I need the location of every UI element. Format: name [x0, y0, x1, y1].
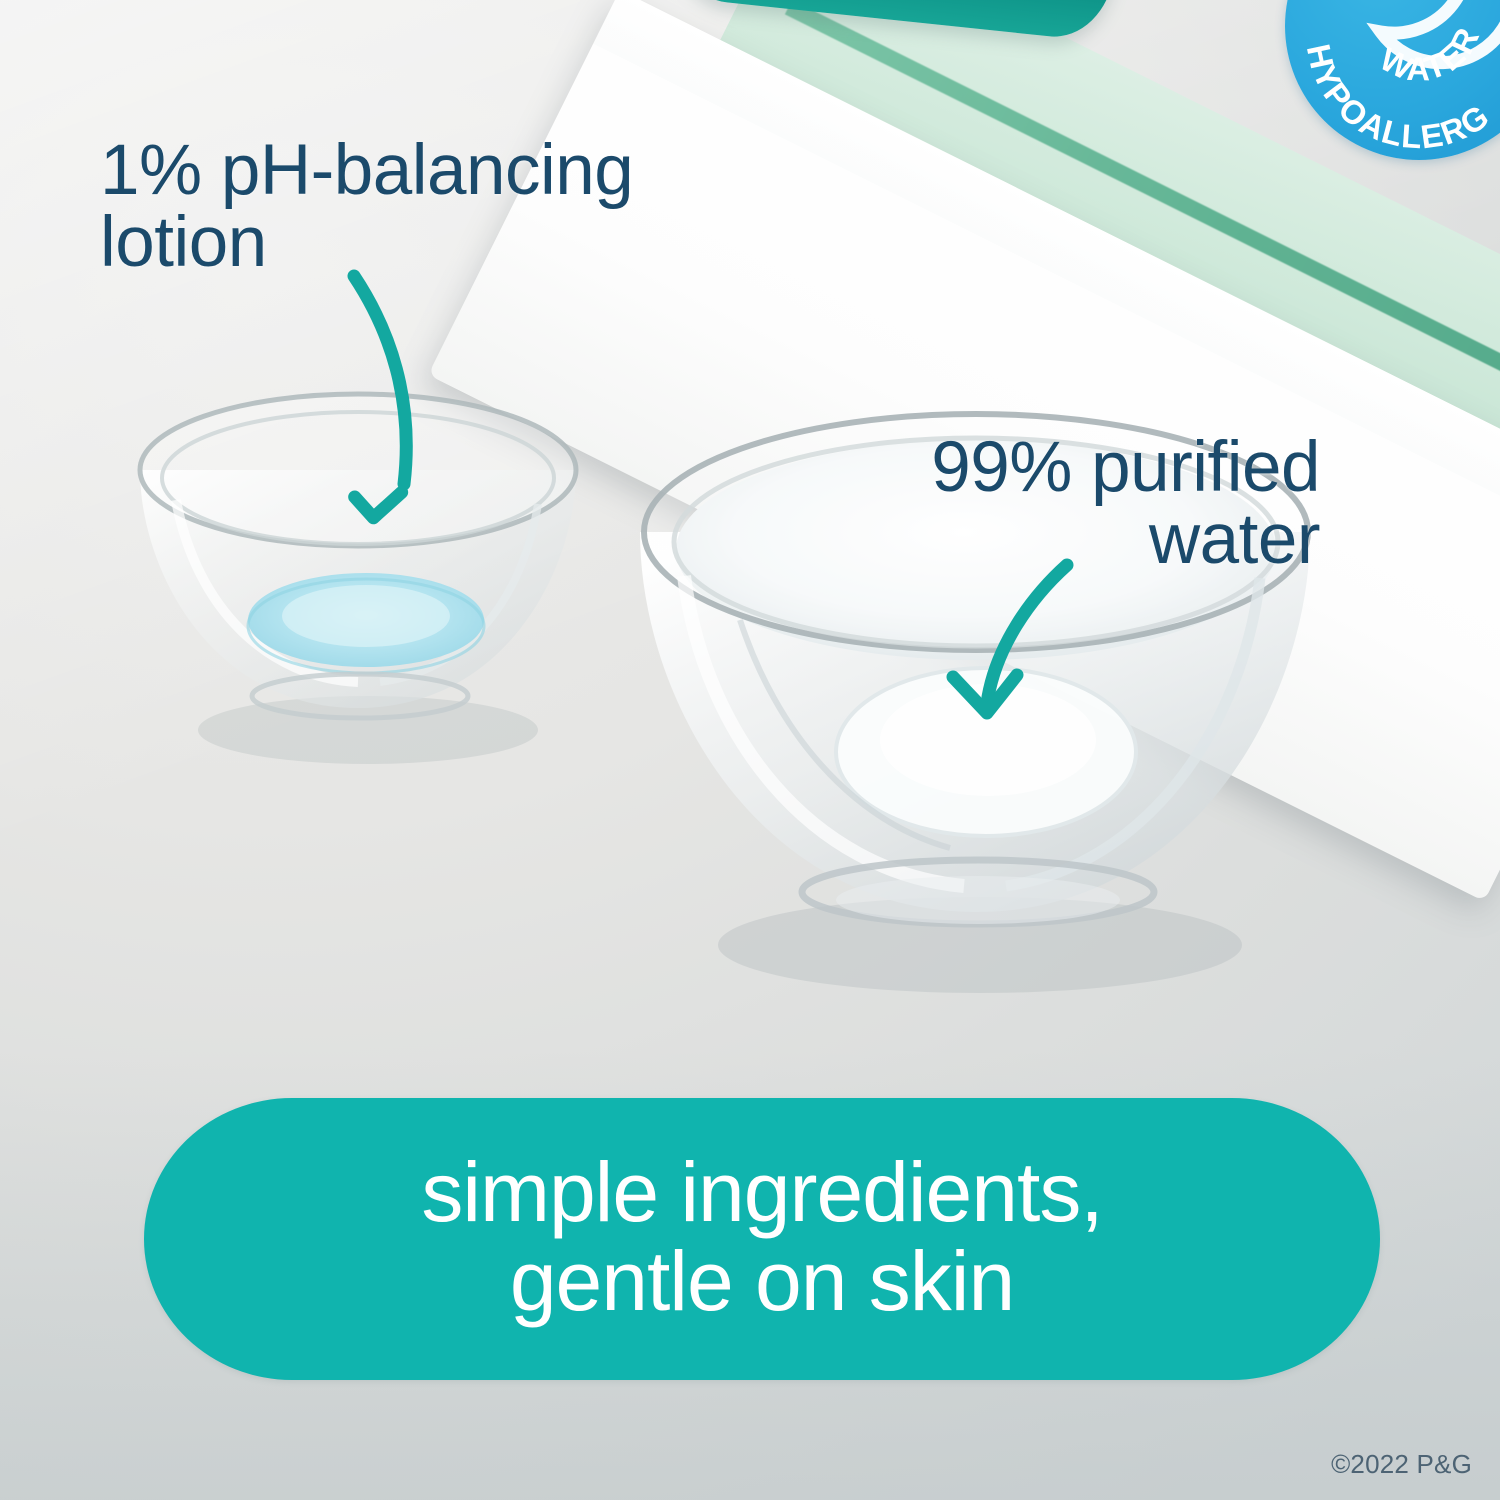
tagline-text: simple ingredients, gentle on skin: [421, 1148, 1102, 1330]
badge-artwork: 99% WATER HYPOALLERGENIC: [1285, 0, 1500, 160]
callout-water-label: 99% purified water: [760, 432, 1320, 577]
product-marketing-image: 99% WATER HYPOALLERGENIC: [0, 0, 1500, 1500]
badge-percent-text: 99%: [1330, 0, 1500, 14]
callout-lotion-label: 1% pH-balancing lotion: [100, 135, 800, 280]
small-glass-bowl: [118, 378, 598, 768]
copyright-text: ©2022 P&G: [1331, 1449, 1472, 1480]
tagline-banner: simple ingredients, gentle on skin: [144, 1098, 1380, 1380]
hypoallergenic-badge: 99% WATER HYPOALLERGENIC: [1285, 0, 1500, 160]
